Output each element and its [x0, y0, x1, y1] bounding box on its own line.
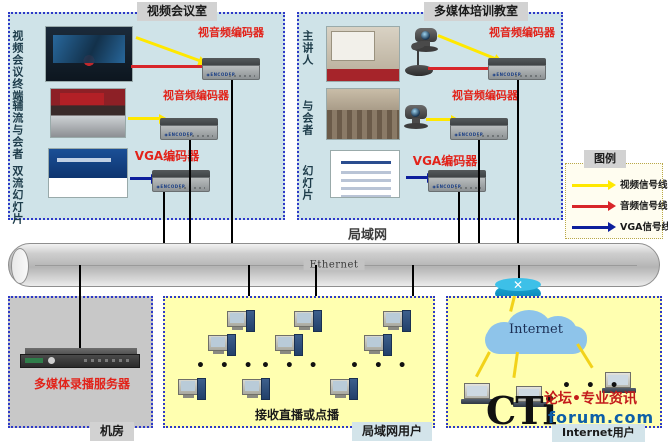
lan-pc-4	[294, 310, 324, 334]
encoder-caption-av-1: 视音频编码器	[198, 27, 258, 40]
lan-pc-8	[364, 334, 394, 358]
side-label-secondary-stream: 辅流与会者	[11, 100, 23, 158]
photo-slide-doc	[330, 150, 400, 198]
cable-server-uplink	[79, 296, 81, 348]
encoder-caption-av-2: 视音频编码器	[163, 90, 223, 103]
internet-users-tab: Internet用户	[552, 424, 645, 442]
server-caption: 多媒体录播服务器	[22, 378, 142, 392]
microphone	[403, 44, 435, 78]
side-label-video-terminal: 视频会议终端	[11, 30, 23, 88]
server-knob	[48, 357, 55, 364]
tower	[313, 310, 322, 332]
cable-left-enc1	[231, 80, 233, 246]
tower	[402, 310, 411, 332]
server-display	[25, 358, 43, 363]
screen	[230, 313, 244, 323]
monitor-base	[247, 395, 258, 398]
laptop-keyboard	[513, 402, 547, 407]
legend-line-audio	[572, 205, 608, 208]
lan-label: 局域网	[348, 224, 387, 243]
ethernet-backbone: Ethernet	[8, 243, 660, 287]
legend-line-vga	[572, 226, 608, 229]
server-slots	[84, 359, 132, 362]
cable-left-enc2	[189, 140, 191, 246]
legend-label-audio: 音频信号线	[620, 198, 668, 212]
av-encoder-1[interactable]: ◉ENCODER	[202, 58, 260, 80]
lan-pc-6	[242, 378, 272, 402]
cable-bus-lan-1	[248, 265, 250, 296]
tower	[227, 334, 236, 356]
side-label-dual-stream-slide: 双流幻灯片	[11, 165, 23, 217]
monitor-base	[299, 327, 310, 330]
camera-lens	[411, 108, 420, 117]
photo-slide	[48, 148, 128, 198]
side-label-presenter: 主讲人	[301, 30, 313, 74]
monitor-base	[183, 395, 194, 398]
legend-arrow-video	[608, 180, 616, 190]
video-conference-room-tab: 视频会议室	[137, 2, 217, 21]
av-encoder-3[interactable]: ◉ENCODER	[488, 58, 546, 80]
photo-audience	[50, 88, 126, 138]
encoder-face: ◉ENCODER	[450, 125, 508, 140]
lan-pc-3	[178, 378, 208, 402]
legend-label-video: 视频信号线、	[620, 177, 668, 191]
side-label-slide: 幻灯片	[301, 165, 313, 209]
legend-title: 图例	[584, 150, 626, 168]
tower	[349, 378, 358, 400]
camera-lens	[421, 31, 430, 40]
cable-right-enc1	[517, 80, 519, 246]
cloud-label: Internet	[481, 322, 591, 337]
multimedia-classroom-tab: 多媒体培训教室	[424, 2, 528, 21]
encoder-caption-vga-1: VGA编码器	[131, 150, 203, 164]
laptop-screen	[467, 386, 487, 396]
encoder-face: ◉ENCODER	[488, 65, 546, 80]
network-topology-diagram: 视频会议室 视频会议终端 辅流与会者 双流幻灯片 视音频编码器 ◉ENCODER…	[0, 0, 668, 445]
screen	[278, 337, 292, 347]
legend-item-video: 视频信号线、	[572, 178, 662, 192]
legend-arrow-vga	[608, 222, 616, 232]
lan-pc-5	[275, 334, 305, 358]
encoder-face: ◉ENCODER	[152, 177, 210, 192]
encoder-leds	[515, 75, 540, 77]
photo-video-terminal	[45, 26, 133, 82]
signal-audio-line-2	[428, 67, 490, 70]
internet-cloud: Internet	[481, 306, 591, 358]
lan-pc-7	[383, 310, 413, 334]
tower	[294, 334, 303, 356]
screen	[211, 337, 225, 347]
encoder-caption-av-3: 视音频编码器	[489, 27, 549, 40]
tower	[197, 378, 206, 400]
signal-video-line-4	[426, 118, 452, 121]
monitor-base	[388, 327, 399, 330]
screen	[181, 381, 195, 391]
ptz-camera-2	[403, 105, 429, 129]
screen	[367, 337, 381, 347]
camera-foot	[404, 123, 428, 129]
cable-bus-lan-2	[315, 265, 317, 296]
lan-dots-3: • • •	[350, 358, 412, 374]
signal-audio-line-1	[131, 65, 207, 68]
cable-bus-serverroom	[79, 265, 81, 296]
lan-dots-2: • • •	[261, 358, 323, 374]
laptop-screen	[519, 389, 539, 399]
encoder-leds	[455, 187, 480, 189]
signal-video-line-2	[128, 117, 160, 120]
monitor-base	[280, 351, 291, 354]
encoder-leds	[477, 135, 502, 137]
lan-pc-9	[330, 378, 360, 402]
bus-end-cap	[11, 248, 29, 284]
recording-server[interactable]	[20, 348, 140, 370]
legend-arrow-audio	[608, 201, 616, 211]
encoder-leds	[187, 135, 212, 137]
lan-pc-2	[208, 334, 238, 358]
monitor-base	[232, 327, 243, 330]
screen	[333, 381, 347, 391]
photo-presenter	[326, 26, 400, 82]
internet-dots: • • •	[562, 378, 624, 394]
legend-label-vga: VGA信号线	[620, 219, 668, 233]
vga-encoder-1[interactable]: ◉ENCODER	[152, 170, 210, 192]
legend-item-audio: 音频信号线	[572, 199, 662, 213]
server-room-tab: 机房	[90, 422, 134, 441]
photo-classroom	[326, 88, 400, 140]
internet-laptop-1	[461, 383, 495, 407]
screen	[297, 313, 311, 323]
lan-users-caption: 接收直播或点播	[255, 406, 339, 423]
cable-bus-lan-3	[412, 265, 414, 296]
encoder-leds	[179, 187, 204, 189]
monitor-base	[335, 395, 346, 398]
encoder-face: ◉ENCODER	[160, 125, 218, 140]
cable-right-enc2	[478, 140, 480, 246]
screen	[245, 381, 259, 391]
legend-item-vga: VGA信号线	[572, 220, 662, 234]
encoder-face: ◉ENCODER	[202, 65, 260, 80]
legend-line-video	[572, 184, 608, 187]
internet-laptop-2	[513, 386, 547, 410]
tower	[246, 310, 255, 332]
monitor-base	[213, 351, 224, 354]
tower	[383, 334, 392, 356]
lan-pc-1	[227, 310, 257, 334]
cable-left-enc3	[163, 192, 165, 246]
lan-users-tab: 局域网用户	[352, 422, 432, 441]
encoder-caption-av-4: 视音频编码器	[452, 90, 512, 103]
lan-dots-1: • • •	[196, 358, 258, 374]
ethernet-label: Ethernet	[304, 259, 365, 270]
cable-right-enc3	[458, 192, 460, 246]
screen	[386, 313, 400, 323]
router-glyph: ✕	[495, 279, 541, 292]
monitor-base	[369, 351, 380, 354]
av-encoder-4[interactable]: ◉ENCODER	[450, 118, 508, 140]
signal-vga-line-2	[406, 176, 428, 179]
laptop-keyboard	[461, 399, 495, 404]
signal-vga-line-1	[130, 177, 152, 180]
legend-box: 图例 视频信号线、 音频信号线 VGA信号线	[565, 163, 663, 239]
av-encoder-2[interactable]: ◉ENCODER	[160, 118, 218, 140]
side-label-attendee: 与会者	[301, 100, 313, 144]
tower	[261, 378, 270, 400]
encoder-caption-vga-2: VGA编码器	[409, 155, 481, 169]
encoder-leds	[229, 75, 254, 77]
